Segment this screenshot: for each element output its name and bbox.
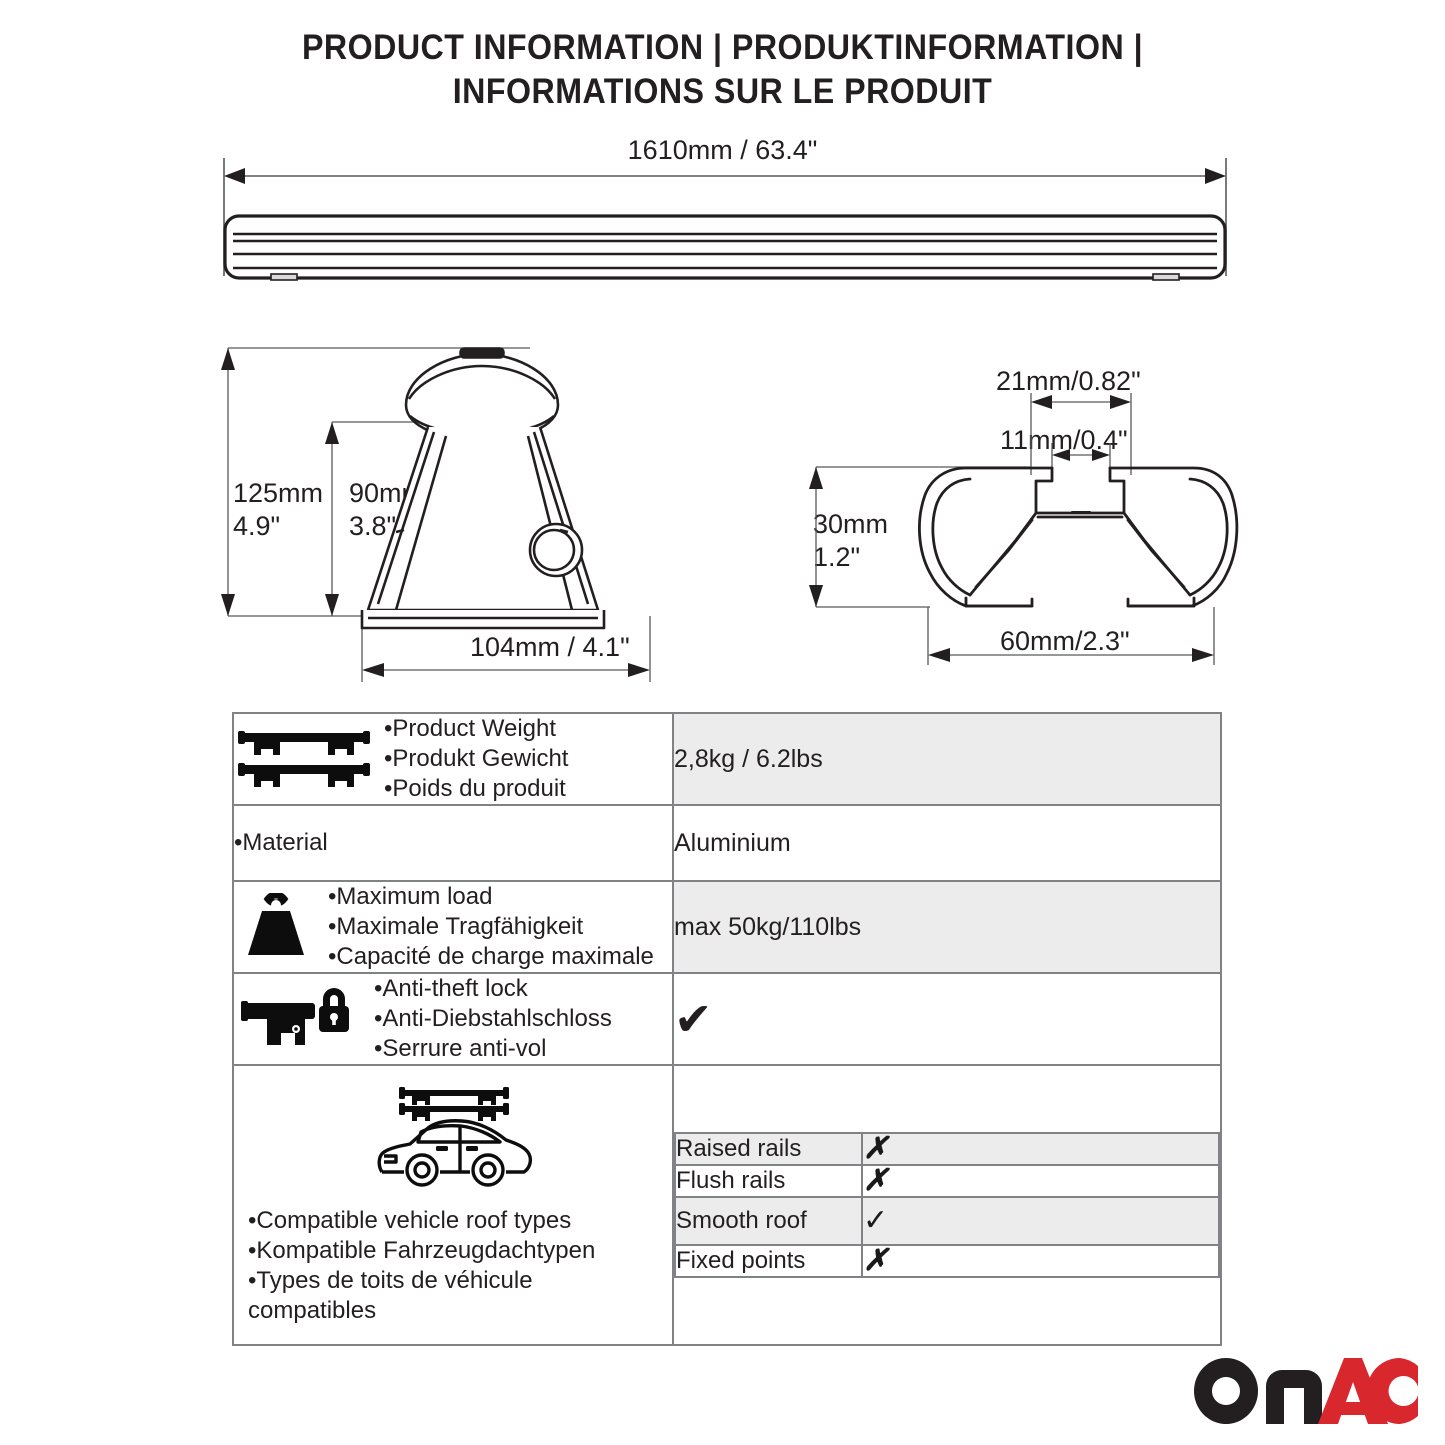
table-row-compatibility: •Compatible vehicle roof types •Kompatib… bbox=[233, 1065, 1221, 1345]
check-icon: ✔ bbox=[674, 993, 713, 1045]
compat-row-raised-rails: Raised rails ✗ bbox=[675, 1133, 1219, 1165]
lock-icon bbox=[234, 985, 364, 1053]
compat-mark: ✓ bbox=[862, 1197, 1219, 1245]
row-value-weight: 2,8kg / 6.2lbs bbox=[673, 713, 1221, 805]
row-value-anti-theft: ✔ bbox=[673, 973, 1221, 1065]
compat-mark: ✗ bbox=[862, 1165, 1219, 1197]
car-with-rack-icon bbox=[248, 1084, 664, 1194]
row-label-cell: •Maximum load •Maximale Tragfähigkeit •C… bbox=[233, 881, 673, 973]
compat-name: Smooth roof bbox=[675, 1197, 862, 1245]
product-information-sheet: PRODUCT INFORMATION | PRODUKTINFORMATION… bbox=[0, 0, 1445, 1445]
row-label-cell: •Product Weight •Produkt Gewicht •Poids … bbox=[233, 713, 673, 805]
crossbar-cross-section-drawing bbox=[780, 355, 1240, 685]
table-row: •Material Aluminium bbox=[233, 805, 1221, 881]
title-line-2: INFORMATIONS SUR LE PRODUIT bbox=[58, 70, 1387, 114]
row-label-cell: •Anti-theft lock •Anti-Diebstahlschloss … bbox=[233, 973, 673, 1065]
row-label-text: •Material bbox=[234, 828, 672, 858]
row-value-material: Aluminium bbox=[673, 805, 1221, 881]
compat-row-flush-rails: Flush rails ✗ bbox=[675, 1165, 1219, 1197]
row-value-max-load: max 50kg/110lbs bbox=[673, 881, 1221, 973]
page-title: PRODUCT INFORMATION | PRODUKTINFORMATION… bbox=[0, 26, 1445, 114]
crossbar-side-view-drawing bbox=[205, 158, 1245, 293]
weight-icon bbox=[234, 893, 318, 961]
compatibility-label-cell: •Compatible vehicle roof types •Kompatib… bbox=[233, 1065, 673, 1345]
tower-foot-front-view-drawing bbox=[210, 332, 690, 692]
specification-table: •Product Weight •Produkt Gewicht •Poids … bbox=[232, 712, 1222, 1346]
row-label-text: •Product Weight •Produkt Gewicht •Poids … bbox=[384, 714, 568, 804]
cross-icon: ✗ bbox=[863, 1244, 888, 1277]
logo-letter-m bbox=[1266, 1370, 1322, 1424]
crossbars-icon bbox=[234, 727, 374, 791]
compat-name: Flush rails bbox=[675, 1165, 862, 1197]
table-row: •Maximum load •Maximale Tragfähigkeit •C… bbox=[233, 881, 1221, 973]
row-label-text: •Anti-theft lock •Anti-Diebstahlschloss … bbox=[374, 974, 612, 1064]
compat-name: Fixed points bbox=[675, 1245, 862, 1277]
table-row: •Product Weight •Produkt Gewicht •Poids … bbox=[233, 713, 1221, 805]
compat-name: Raised rails bbox=[675, 1133, 862, 1165]
row-label-text: •Maximum load •Maximale Tragfähigkeit •C… bbox=[328, 882, 654, 972]
check-icon: ✓ bbox=[863, 1204, 888, 1237]
compatibility-label-text: •Compatible vehicle roof types •Kompatib… bbox=[248, 1206, 664, 1326]
table-row: •Anti-theft lock •Anti-Diebstahlschloss … bbox=[233, 973, 1221, 1065]
compat-mark: ✗ bbox=[862, 1245, 1219, 1277]
title-line-1: PRODUCT INFORMATION | PRODUKTINFORMATION… bbox=[58, 26, 1387, 70]
omac-logo bbox=[1192, 1356, 1420, 1426]
cross-icon: ✗ bbox=[863, 1164, 888, 1197]
cross-icon: ✗ bbox=[863, 1132, 888, 1165]
compatibility-options-cell: Raised rails ✗ Flush rails ✗ bbox=[673, 1065, 1221, 1345]
compat-row-smooth-roof: Smooth roof ✓ bbox=[675, 1197, 1219, 1245]
logo-letter-o bbox=[1194, 1358, 1258, 1424]
compatibility-options-table: Raised rails ✗ Flush rails ✗ bbox=[674, 1132, 1220, 1278]
compat-row-fixed-points: Fixed points ✗ bbox=[675, 1245, 1219, 1277]
compat-mark: ✗ bbox=[862, 1133, 1219, 1165]
row-label-cell: •Material bbox=[233, 805, 673, 881]
